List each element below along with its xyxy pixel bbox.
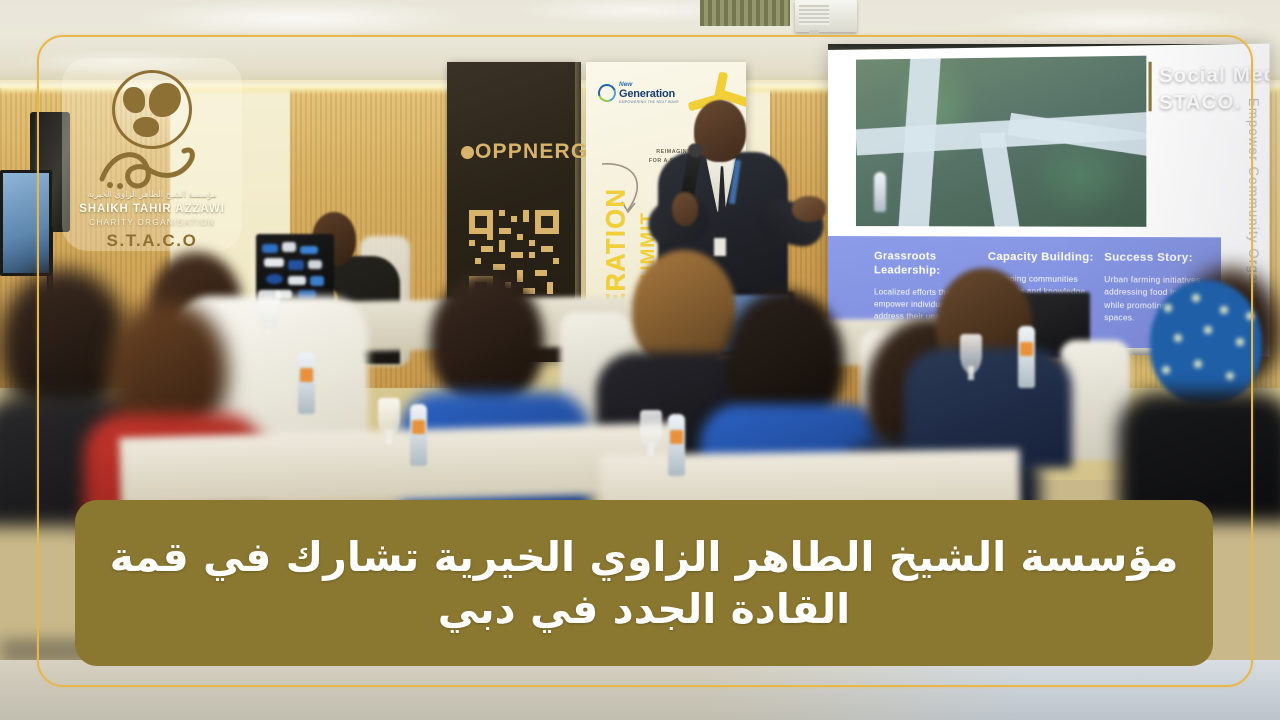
water-bottle xyxy=(874,172,886,212)
speaker-right-hand xyxy=(792,196,826,222)
bottle-label xyxy=(1020,342,1033,356)
bottle-label xyxy=(300,368,313,382)
wine-glass xyxy=(378,398,400,438)
attendee-polka-dot-headscarf xyxy=(1150,280,1262,404)
table-front-left xyxy=(119,422,681,508)
bottle-label xyxy=(670,430,683,444)
wine-glass xyxy=(258,290,280,330)
bottle-label xyxy=(412,420,425,434)
wine-glass xyxy=(640,410,662,450)
wine-glass xyxy=(960,334,982,374)
water-bottle xyxy=(298,352,315,414)
speaker-badge xyxy=(714,238,726,256)
water-bottle xyxy=(668,414,685,476)
speaker-left-hand xyxy=(672,192,698,226)
caption-banner: مؤسسة الشيخ الطاهر الزاوي الخيرية تشارك … xyxy=(75,500,1213,666)
screenshot-canvas: مؤسسة الشيخ الطاهر الزاوي الخيرية SHAIKH… xyxy=(0,0,1280,720)
caption-text: مؤسسة الشيخ الطاهر الزاوي الخيرية تشارك … xyxy=(103,531,1185,636)
floor-reflection xyxy=(0,660,1280,720)
water-bottle xyxy=(410,404,427,466)
attendee-head xyxy=(430,274,544,406)
water-bottle xyxy=(1018,326,1035,388)
